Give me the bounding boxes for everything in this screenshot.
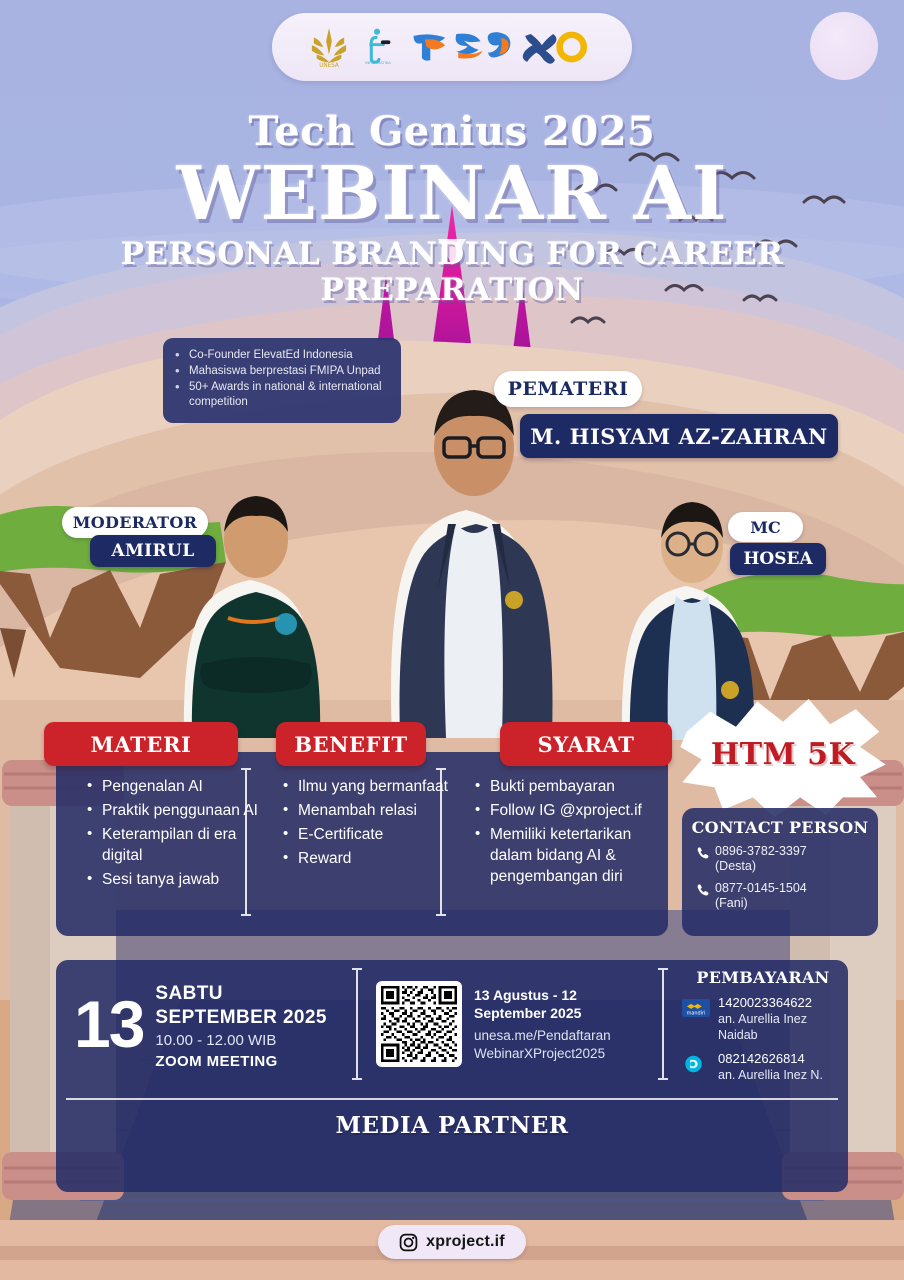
event-details-panel: 13 SABTU SEPTEMBER 2025 10.00 - 12.00 WI… bbox=[56, 960, 848, 1192]
contact-name: (Desta) bbox=[715, 859, 807, 874]
speaker-role-label: PEMATERI bbox=[494, 371, 642, 407]
event-day-name: SABTU bbox=[155, 982, 326, 1006]
section-divider bbox=[66, 1098, 838, 1100]
speaker-name: M. HISYAM AZ-ZAHRAN bbox=[520, 414, 838, 458]
registration-qr-code[interactable] bbox=[376, 981, 462, 1067]
event-day-number: 13 bbox=[74, 994, 143, 1054]
contact-phone: 0877-0145-1504 bbox=[715, 881, 807, 896]
moderator-role-label: MODERATOR bbox=[62, 507, 208, 538]
column-divider bbox=[245, 768, 247, 916]
moon-icon bbox=[810, 12, 878, 80]
payment-number: 082142626814 bbox=[718, 1051, 823, 1067]
payment-holder: an. Aurellia Inez Naidab bbox=[718, 1011, 848, 1043]
list-item: Follow IG @xproject.if bbox=[472, 800, 662, 821]
informatika-unesa-logo: INFORMATIKA bbox=[361, 26, 395, 68]
instagram-handle: xproject.if bbox=[426, 1233, 505, 1251]
payment-method: mandiri 1420023364622 an. Aurellia Inez … bbox=[678, 987, 848, 1043]
event-month-year: SEPTEMBER 2025 bbox=[155, 1006, 326, 1030]
syarat-heading: SYARAT bbox=[500, 722, 672, 766]
registration-block: 13 Agustus - 12 September 2025 unesa.me/… bbox=[376, 960, 662, 1088]
payment-method: 082142626814 an. Aurellia Inez N. bbox=[678, 1043, 848, 1083]
phone-icon bbox=[696, 883, 709, 896]
moderator-name: AMIRUL bbox=[90, 535, 216, 567]
list-item: Pengenalan AI bbox=[84, 776, 258, 797]
list-item: Keterampilan di era digital bbox=[84, 824, 258, 866]
event-date-block: 13 SABTU SEPTEMBER 2025 10.00 - 12.00 WI… bbox=[56, 960, 356, 1088]
contact-name: (Fani) bbox=[715, 896, 807, 911]
contact-panel: CONTACT PERSON 0896-3782-3397 (Desta) 08… bbox=[682, 808, 878, 936]
svg-text:mandiri: mandiri bbox=[687, 1011, 706, 1017]
event-platform: ZOOM MEETING bbox=[155, 1051, 326, 1072]
panel-divider bbox=[662, 968, 664, 1080]
list-item: Menambah relasi bbox=[280, 800, 450, 821]
xproject-logo bbox=[408, 26, 594, 68]
registration-url-line1[interactable]: unesa.me/Pendaftaran bbox=[474, 1027, 611, 1045]
list-item: Praktik penggunaan AI bbox=[84, 800, 258, 821]
column-divider bbox=[440, 768, 442, 916]
list-item: Ilmu yang bermanfaat bbox=[280, 776, 450, 797]
info-columns-panel: Pengenalan AI Praktik penggunaan AI Kete… bbox=[56, 752, 668, 936]
contact-entry: 0896-3782-3397 (Desta) bbox=[682, 837, 878, 874]
panel-divider bbox=[356, 968, 358, 1080]
logo-bar: UNESA INFORMATIKA bbox=[272, 13, 632, 81]
payment-holder: an. Aurellia Inez N. bbox=[718, 1067, 823, 1083]
benefit-list: Ilmu yang bermanfaat Menambah relasi E-C… bbox=[258, 776, 450, 926]
payment-number: 1420023364622 bbox=[718, 995, 848, 1011]
media-partner-title: MEDIA PARTNER bbox=[56, 1112, 848, 1139]
title-eyebrow: Tech Genius 2025 bbox=[0, 108, 904, 155]
contact-phone: 0896-3782-3397 bbox=[715, 844, 807, 859]
payment-title: PEMBAYARAN bbox=[678, 968, 848, 987]
price-label: HTM 5K bbox=[711, 737, 855, 772]
contact-entry: 0877-0145-1504 (Fani) bbox=[682, 874, 878, 911]
list-item: Memiliki ketertarikan dalam bidang AI & … bbox=[472, 824, 662, 887]
registration-url-line2[interactable]: WebinarXProject2025 bbox=[474, 1045, 611, 1063]
list-item: Reward bbox=[280, 848, 450, 869]
list-item: Bukti pembayaran bbox=[472, 776, 662, 797]
registration-period-line2: September 2025 bbox=[474, 1004, 611, 1022]
materi-list: Pengenalan AI Praktik penggunaan AI Kete… bbox=[62, 776, 258, 926]
syarat-list: Bukti pembayaran Follow IG @xproject.if … bbox=[450, 776, 662, 926]
mc-name: HOSEA bbox=[730, 543, 826, 575]
registration-period-line1: 13 Agustus - 12 bbox=[474, 986, 611, 1004]
poster-root: UNESA INFORMATIKA Tech Genius 2025 WEBIN… bbox=[0, 0, 904, 1280]
title-block: Tech Genius 2025 WEBINAR AI PERSONAL BRA… bbox=[0, 108, 904, 308]
title-subtitle: PERSONAL BRANDING FOR CAREER PREPARATION bbox=[0, 236, 904, 308]
benefit-heading: BENEFIT bbox=[276, 722, 426, 766]
instagram-icon bbox=[399, 1233, 418, 1252]
list-item: Sesi tanya jawab bbox=[84, 869, 258, 890]
instagram-footer-pill[interactable]: xproject.if bbox=[378, 1225, 526, 1259]
svg-text:UNESA: UNESA bbox=[319, 63, 339, 68]
contact-title: CONTACT PERSON bbox=[682, 808, 878, 837]
event-time: 10.00 - 12.00 WIB bbox=[155, 1030, 326, 1051]
list-item: E-Certificate bbox=[280, 824, 450, 845]
svg-text:INFORMATIKA: INFORMATIKA bbox=[365, 60, 391, 65]
mandiri-logo-icon: mandiri bbox=[682, 998, 710, 1018]
materi-heading: MATERI bbox=[44, 722, 238, 766]
page-title: WEBINAR AI bbox=[0, 159, 904, 230]
dana-logo-icon bbox=[682, 1054, 710, 1074]
payment-block: PEMBAYARAN mandiri 1420023364622 an. Aur… bbox=[678, 960, 848, 1088]
unesa-logo: UNESA bbox=[310, 26, 348, 68]
mc-role-label: MC bbox=[728, 512, 803, 542]
phone-icon bbox=[696, 846, 709, 859]
